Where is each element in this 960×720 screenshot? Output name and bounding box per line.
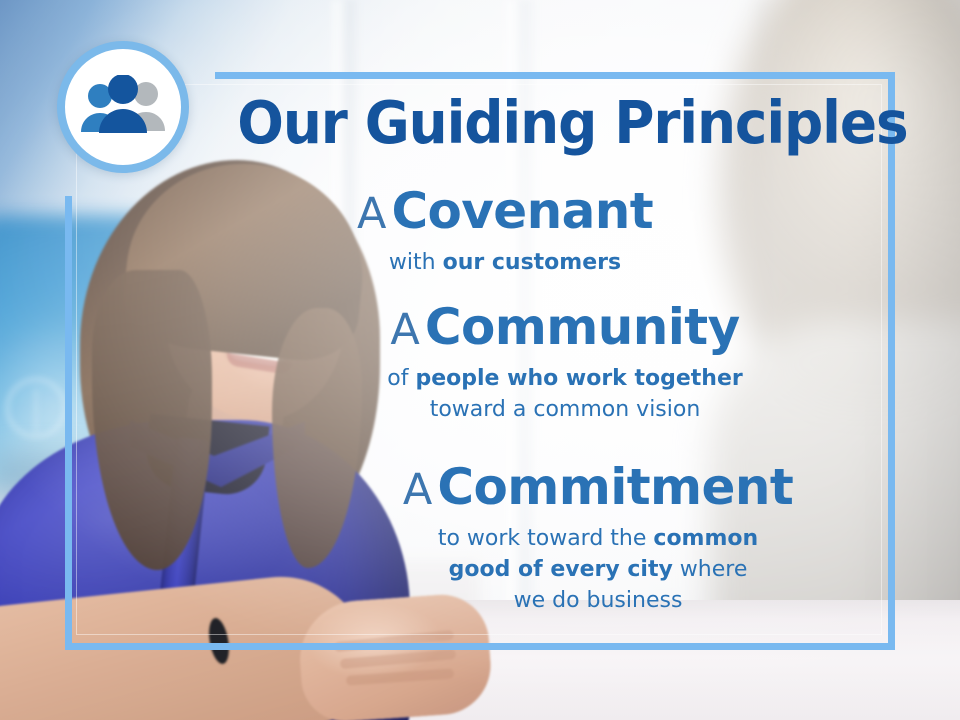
commitment-sub-plain-3: we do business <box>514 588 683 613</box>
covenant-sub-bold: our customers <box>443 250 622 275</box>
promo-graphic: FLOW FLOW <box>0 0 960 720</box>
commitment-sub-plain-2: where <box>673 557 748 582</box>
principle-covenant-article: A <box>357 189 386 239</box>
principle-covenant-heading: A Covenant <box>190 186 820 237</box>
principle-community: A Community of people who work together … <box>250 302 880 425</box>
community-sub-plain-2: toward a common vision <box>430 397 701 422</box>
principle-commitment-word: Commitment <box>437 458 793 516</box>
covenant-sub-plain: with <box>389 250 443 275</box>
principle-commitment: A Commitment to work toward the common g… <box>300 462 896 617</box>
community-sub-plain-1: of <box>387 366 415 391</box>
page-title: Our Guiding Principles <box>237 93 856 152</box>
principle-commitment-subtext: to work toward the common good of every … <box>300 523 896 617</box>
principle-community-word: Community <box>425 298 740 356</box>
community-sub-bold-1: people who work together <box>415 366 742 391</box>
principle-community-heading: A Community <box>250 302 880 353</box>
principle-community-subtext: of people who work together toward a com… <box>250 363 880 425</box>
commitment-sub-bold-2: good of every city <box>449 557 673 582</box>
commitment-sub-bold-1: common <box>653 526 758 551</box>
principle-covenant-subtext: with our customers <box>190 247 820 278</box>
principle-commitment-heading: A Commitment <box>300 462 896 513</box>
commitment-sub-plain-1: to work toward the <box>438 526 654 551</box>
text-layer: Our Guiding Principles A Covenant with o… <box>0 0 960 720</box>
principle-covenant: A Covenant with our customers <box>190 186 820 278</box>
principle-covenant-word: Covenant <box>391 182 653 240</box>
principle-commitment-article: A <box>403 465 432 515</box>
principle-community-article: A <box>390 305 419 355</box>
